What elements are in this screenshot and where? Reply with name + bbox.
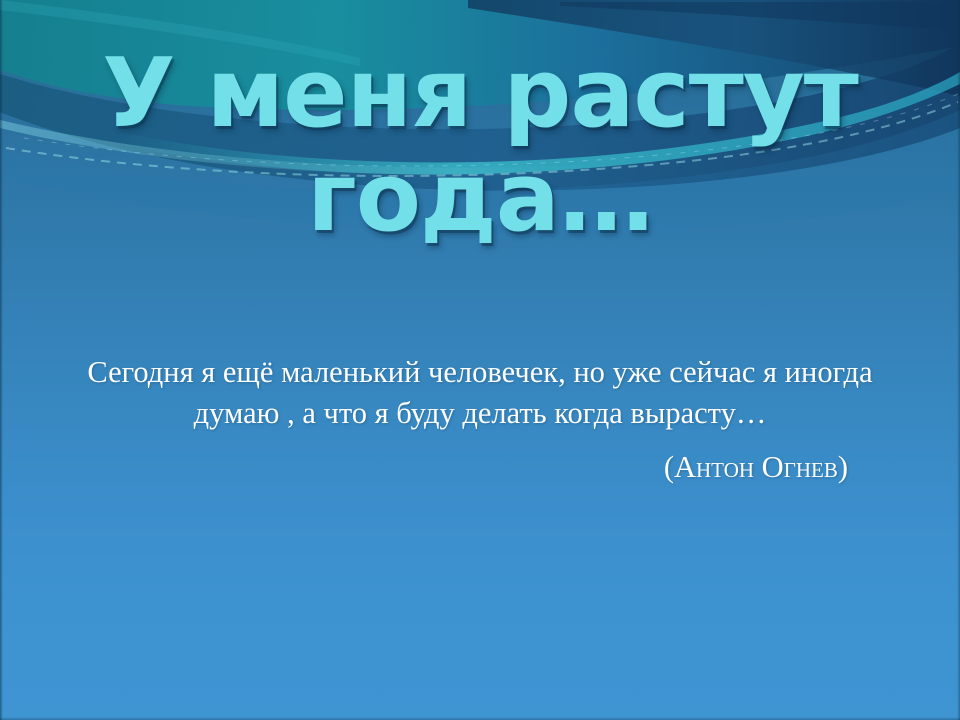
slide-title-line-2: года… (0, 144, 960, 252)
slide-body: Сегодня я ещё маленький человечек, но уж… (64, 352, 896, 486)
slide-title: У меня растут года… (0, 40, 960, 252)
quote-attribution: (Антон Огнев) (64, 448, 896, 486)
presentation-slide: У меня растут года… Сегодня я ещё малень… (0, 0, 960, 720)
slide-title-line-1: У меня растут (0, 40, 960, 148)
wave-band-dark-diagonal-2 (560, 2, 960, 30)
body-paragraph: Сегодня я ещё маленький человечек, но уж… (64, 352, 896, 434)
